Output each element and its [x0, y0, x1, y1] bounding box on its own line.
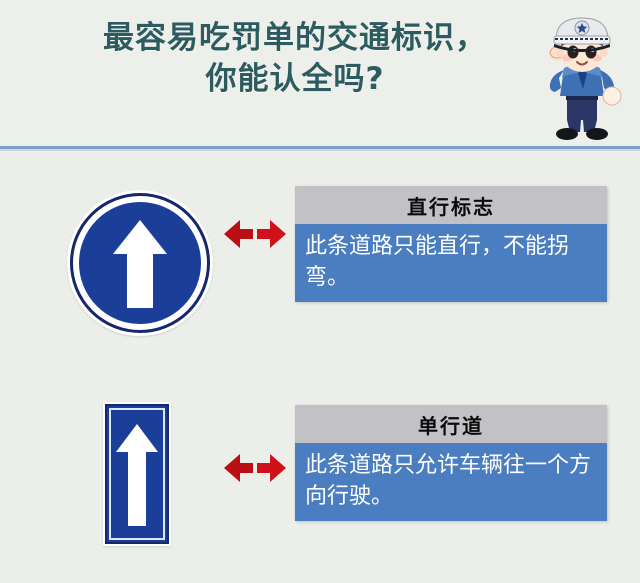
- policeman-saluting-icon: [534, 8, 630, 144]
- round-blue-straight-ahead-sign: [67, 190, 213, 336]
- page-title-line-1: 最容易吃罚单的交通标识，: [60, 18, 530, 59]
- page-title-line-2: 你能认全吗?: [60, 59, 530, 100]
- header-divider-shadow: [0, 149, 640, 151]
- sign-row-one-way: 单行道 此条道路只允许车辆往一个方向行驶。: [0, 388, 640, 563]
- page-title: 最容易吃罚单的交通标识， 你能认全吗?: [60, 18, 530, 100]
- sign-row-straight-ahead: 直行标志 此条道路只能直行，不能拐弯。: [0, 168, 640, 348]
- double-red-arrow-icon: [222, 216, 288, 252]
- up-arrow-glyph: [111, 218, 169, 310]
- card-title: 直行标志: [295, 186, 607, 224]
- double-red-arrow-icon: [222, 450, 288, 486]
- page-header: 最容易吃罚单的交通标识， 你能认全吗?: [0, 0, 640, 148]
- info-card-straight-ahead: 直行标志 此条道路只能直行，不能拐弯。: [295, 186, 607, 302]
- card-title: 单行道: [295, 405, 607, 443]
- rectangular-blue-one-way-sign: [103, 402, 171, 546]
- card-description: 此条道路只能直行，不能拐弯。: [295, 224, 607, 302]
- up-arrow-glyph: [115, 422, 159, 528]
- card-description: 此条道路只允许车辆往一个方向行驶。: [295, 443, 607, 521]
- info-card-one-way: 单行道 此条道路只允许车辆往一个方向行驶。: [295, 405, 607, 521]
